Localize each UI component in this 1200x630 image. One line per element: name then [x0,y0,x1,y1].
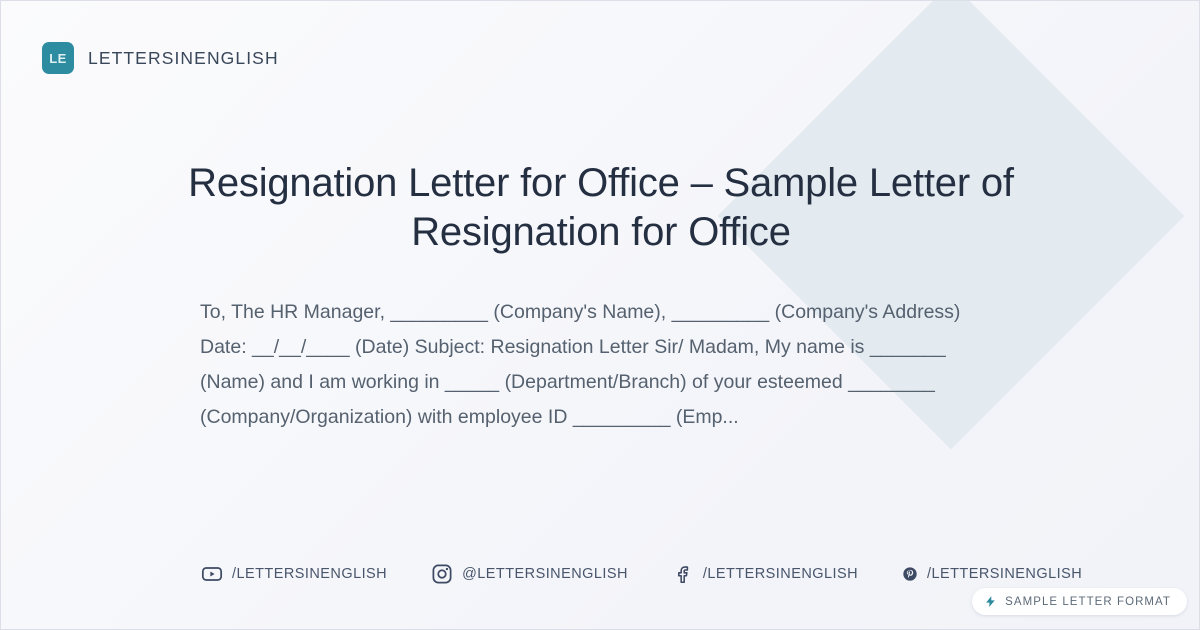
brand-logo-mark: LE [42,42,74,74]
lightning-bolt-icon [984,594,997,609]
brand-logo-text: LE [49,51,67,66]
article-excerpt: To, The HR Manager, _________ (Company's… [200,295,1005,435]
social-link-youtube[interactable]: /LETTERSINENGLISH [201,563,387,585]
social-link-instagram[interactable]: @LETTERSINENGLISH [431,563,628,585]
social-link-pinterest[interactable]: /LETTERSINENGLISH [902,566,1082,582]
share-card: LE LETTERSINENGLISH Resignation Letter f… [0,0,1200,630]
instagram-icon [431,563,453,585]
social-link-facebook[interactable]: /LETTERSINENGLISH [672,563,858,585]
brand-header[interactable]: LE LETTERSINENGLISH [42,42,279,74]
facebook-icon [672,563,694,585]
brand-name: LETTERSINENGLISH [88,48,279,69]
social-handle: /LETTERSINENGLISH [703,566,858,582]
social-links: /LETTERSINENGLISH @LETTERSINENGLISH /LET… [201,563,1082,585]
page-title: Resignation Letter for Office – Sample L… [101,159,1101,257]
social-handle: /LETTERSINENGLISH [927,566,1082,582]
social-handle: @LETTERSINENGLISH [462,566,628,582]
youtube-icon [201,563,223,585]
status-badge-label: SAMPLE LETTER FORMAT [1005,596,1171,608]
pinterest-icon [902,566,918,582]
status-badge: SAMPLE LETTER FORMAT [972,588,1187,615]
social-handle: /LETTERSINENGLISH [232,566,387,582]
